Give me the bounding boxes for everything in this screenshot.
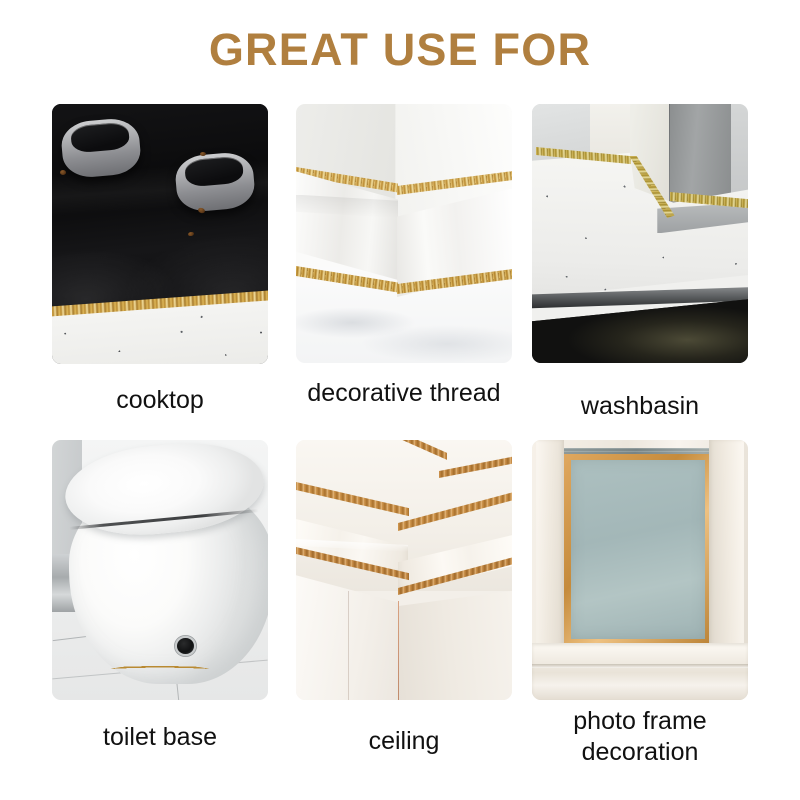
caption-decorative-thread: decorative thread (278, 378, 530, 409)
caption-washbasin: washbasin (532, 391, 748, 422)
image-washbasin (532, 104, 748, 363)
image-ceiling (296, 440, 512, 700)
caption-toilet-base: toilet base (52, 722, 268, 753)
ceiling-wall-right (398, 591, 512, 700)
image-decorative-thread (296, 104, 512, 363)
frame-molding-bottom (532, 643, 748, 700)
image-toilet-base (52, 440, 268, 700)
caption-ceiling: ceiling (296, 726, 512, 757)
page-title: GREAT USE FOR (0, 24, 800, 76)
frame-bottom-groove (532, 664, 748, 669)
toilet-side-button (177, 638, 193, 654)
frame-glass-panel (571, 460, 705, 639)
infographic-page: GREAT USE FOR cooktop decorative thread (0, 0, 800, 800)
image-photo-frame-decoration (532, 440, 748, 700)
caption-photo-frame-decoration: photo frame decoration (524, 706, 756, 767)
image-cooktop (52, 104, 268, 364)
caption-cooktop: cooktop (52, 385, 268, 416)
ceiling-corner-line (398, 601, 400, 700)
cooktop-crumb-4 (200, 152, 206, 156)
ceiling-panel-edge (348, 591, 349, 700)
cooktop-crumb-3 (60, 170, 66, 175)
